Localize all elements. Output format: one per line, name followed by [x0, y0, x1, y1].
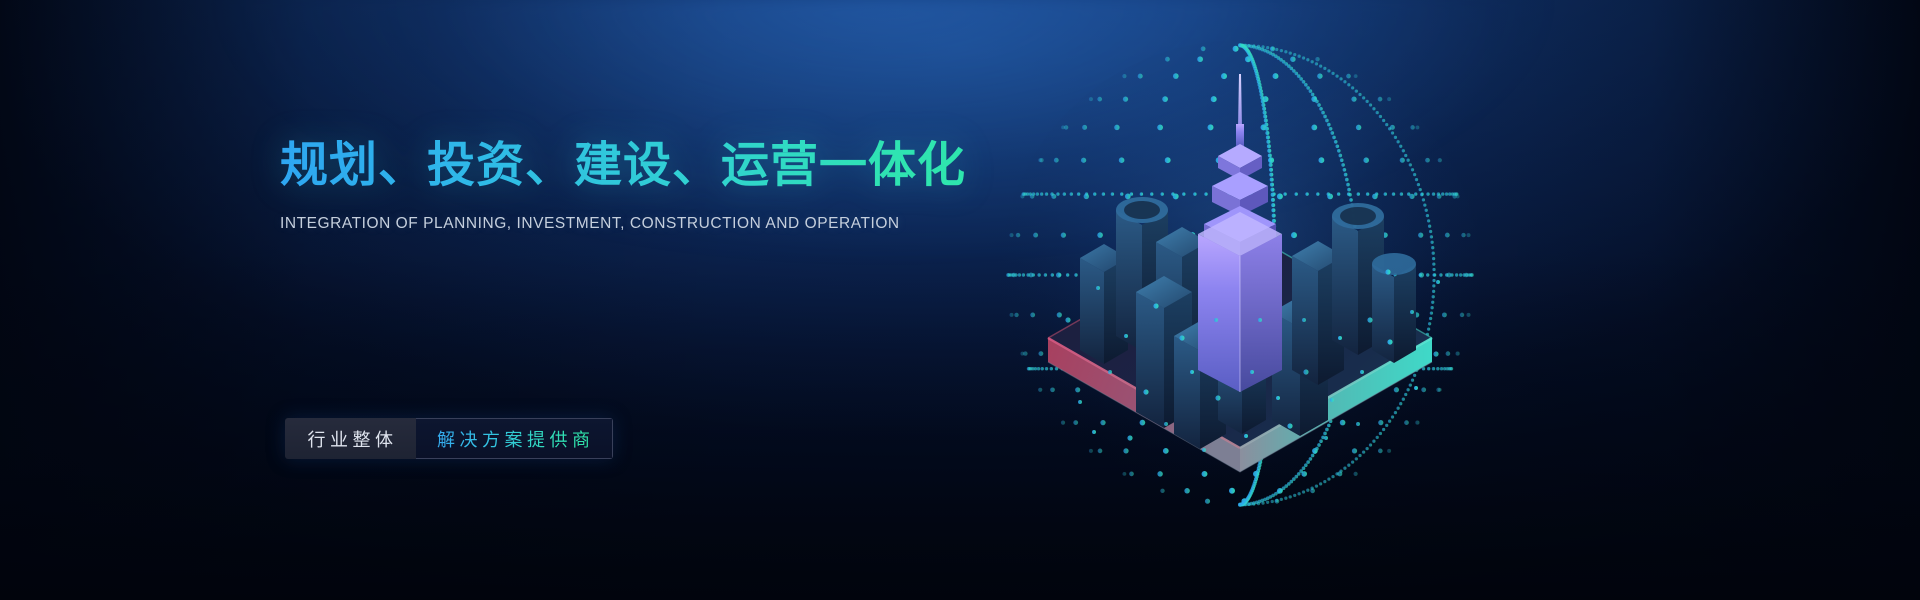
building-cylinder-far-right — [1372, 253, 1416, 363]
hero-artwork — [960, 20, 1520, 580]
banner-copy: 规划、投资、建设、运营一体化 INTEGRATION OF PLANNING, … — [280, 140, 1040, 233]
badge-right-segment: 解决方案提供商 — [416, 418, 613, 459]
badge-left-label: 行业整体 — [285, 418, 416, 459]
page-title: 规划、投资、建设、运营一体化 — [280, 140, 1040, 193]
hero-banner: 规划、投资、建设、运营一体化 INTEGRATION OF PLANNING, … — [0, 0, 1920, 600]
badge-right-label: 解决方案提供商 — [433, 426, 595, 452]
page-subtitle: INTEGRATION OF PLANNING, INVESTMENT, CON… — [280, 215, 1040, 233]
tagline-badge: 行业整体 解决方案提供商 — [285, 418, 613, 459]
